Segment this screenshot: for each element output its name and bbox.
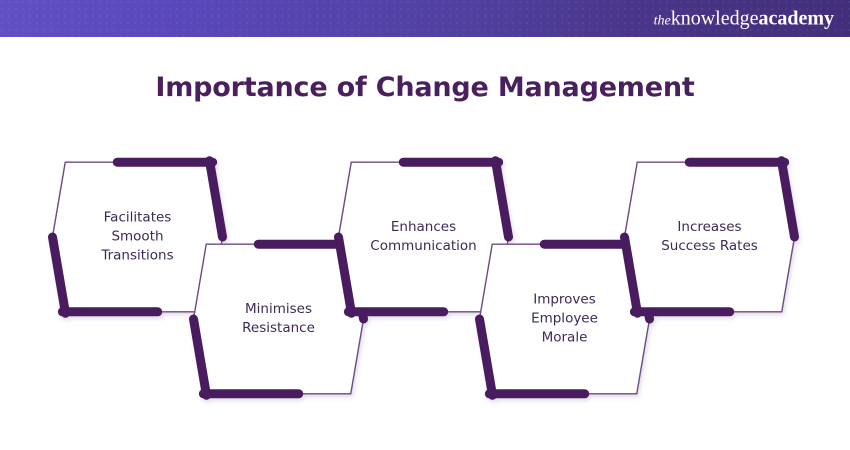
hexagon-outline [625, 162, 795, 312]
brand-logo: theknowledgeacademy [654, 7, 834, 30]
header-bar: theknowledgeacademy [0, 0, 850, 37]
hexagon-outline [53, 162, 223, 312]
page-title: Importance of Change Management [0, 72, 850, 103]
hexagon-outline [194, 244, 364, 394]
hexagon-chain-diagram: Facilitates Smooth TransitionsMinimises … [0, 130, 850, 420]
brand-academy-text: academy [758, 7, 834, 29]
brand-knowledge-text: knowledge [671, 7, 759, 29]
infographic-page: theknowledgeacademy Importance of Change… [0, 0, 850, 450]
hexagon-chain-svg [0, 130, 850, 420]
brand-the-text: the [654, 13, 671, 28]
hexagon-outline [480, 244, 650, 394]
hexagon-outline [339, 162, 509, 312]
